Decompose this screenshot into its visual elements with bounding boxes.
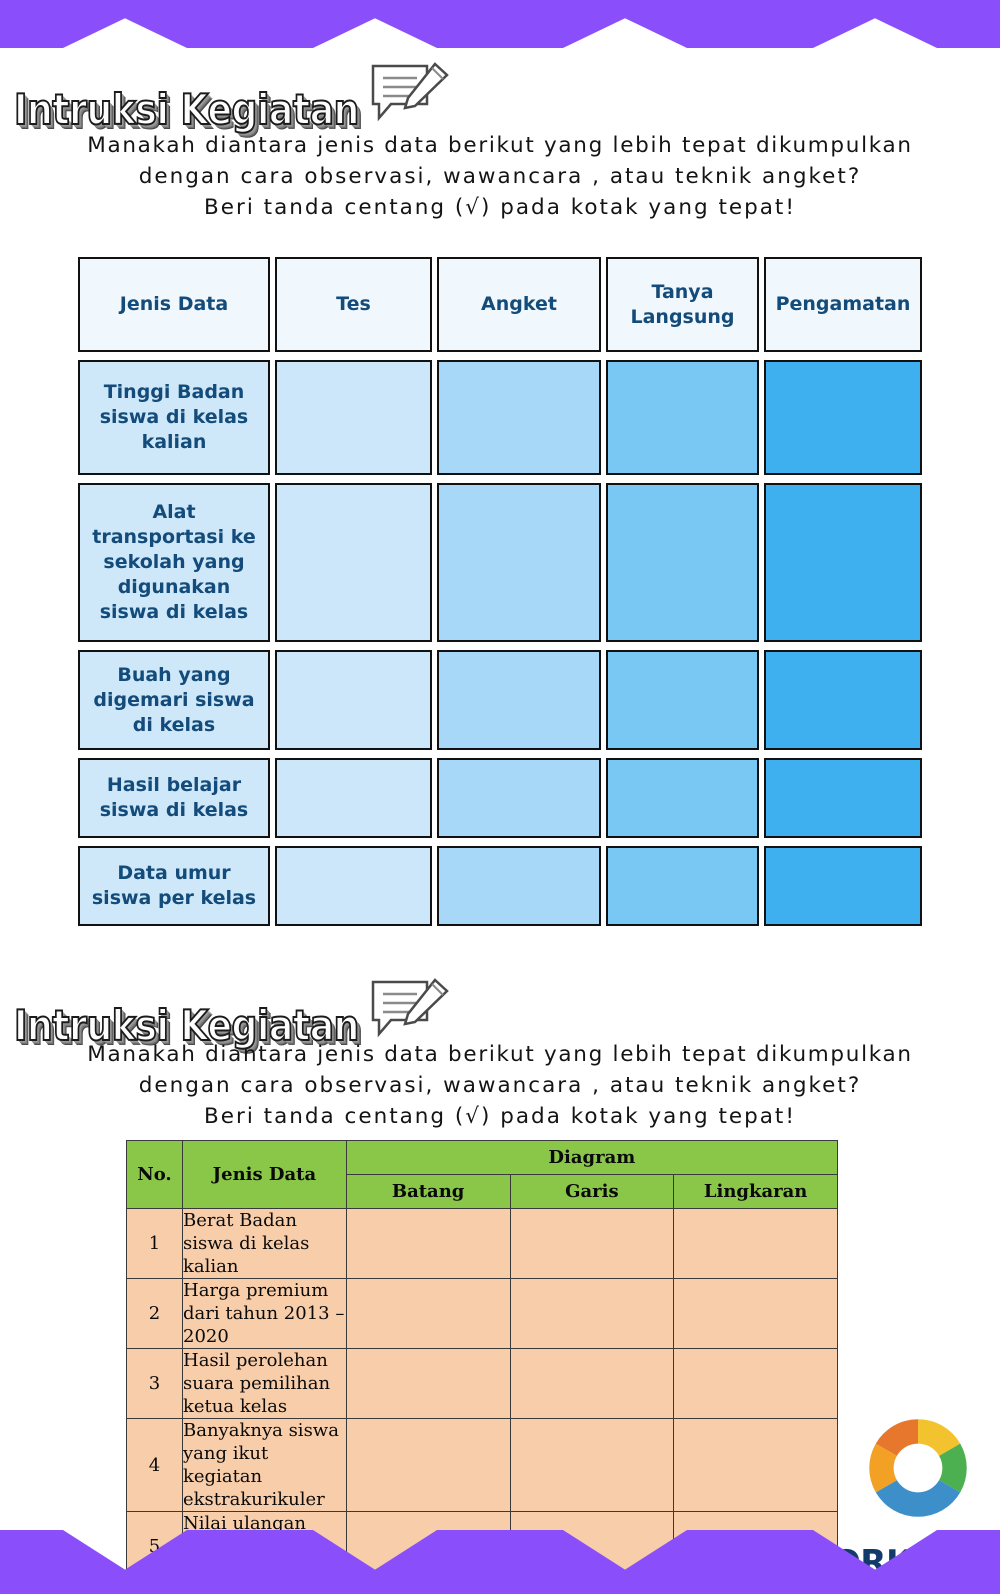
checkbox-cell-pengamatan-5[interactable] [764,846,922,926]
row-jenis-data: Banyaknya siswa yang ikut kegiatan ekstr… [183,1419,347,1512]
checkbox-cell-tes-2[interactable] [275,483,432,642]
checkbox-cell-angket-2[interactable] [437,483,601,642]
row-number: 1 [127,1209,183,1279]
instruction-line-1: Manakah diantara jenis data berikut yang… [0,130,1000,161]
checkbox-cell-tes-5[interactable] [275,846,432,926]
table-row: 2 Harga premium dari tahun 2013 – 2020 [127,1279,838,1349]
table1-header-jenis-data: Jenis Data [78,257,270,352]
section1-heading: Intruksi Kegiatan [14,62,453,132]
row-jenis-data: Berat Badan siswa di kelas kalian [183,1209,347,1279]
diagram-type-table: No. Jenis Data Diagram Batang Garis Ling… [126,1140,838,1594]
checkbox-cell-garis-3[interactable] [510,1349,674,1419]
checkbox-cell-angket-3[interactable] [437,650,601,750]
checkbox-cell-tes-4[interactable] [275,758,432,838]
row-jenis-data: Hasil perolehan suara pemilihan ketua ke… [183,1349,347,1419]
row-jenis-data: Harga premium dari tahun 2013 – 2020 [183,1279,347,1349]
checkbox-cell-pengamatan-4[interactable] [764,758,922,838]
table1-header-tanya-langsung: Tanya Langsung [606,257,759,352]
row-number: 4 [127,1419,183,1512]
checkbox-cell-garis-1[interactable] [510,1209,674,1279]
checkbox-cell-batang-1[interactable] [346,1209,510,1279]
table2-header-lingkaran: Lingkaran [674,1175,838,1209]
checkbox-cell-garis-2[interactable] [510,1279,674,1349]
checkbox-cell-angket-5[interactable] [437,846,601,926]
table-row: 4 Banyaknya siswa yang ikut kegiatan eks… [127,1419,838,1512]
checkbox-cell-garis-4[interactable] [510,1419,674,1512]
data-collection-table: Jenis Data Tes Angket Tanya Langsung Pen… [78,257,910,926]
checkbox-cell-batang-4[interactable] [346,1419,510,1512]
note-pencil-icon [369,62,453,128]
checkbox-cell-tanya-4[interactable] [606,758,759,838]
top-decorative-band [0,0,1000,48]
row-number: 2 [127,1279,183,1349]
section1-heading-text: Intruksi Kegiatan [14,88,359,132]
table1-row-label: Buah yang digemari siswa di kelas [78,650,270,750]
table1-row-label: Alat transportasi ke sekolah yang diguna… [78,483,270,642]
checkbox-cell-lingkaran-4[interactable] [674,1419,838,1512]
checkbox-cell-angket-1[interactable] [437,360,601,475]
instruction-line-2: dengan cara observasi, wawancara , atau … [0,161,1000,192]
checkbox-cell-batang-2[interactable] [346,1279,510,1349]
table2-header-diagram: Diagram [346,1141,837,1175]
checkbox-cell-lingkaran-1[interactable] [674,1209,838,1279]
worksheet-page: Intruksi Kegiatan Manakah diantara jenis… [0,0,1000,1594]
checkbox-cell-tanya-1[interactable] [606,360,759,475]
table2-header-garis: Garis [510,1175,674,1209]
table2-header-no: No. [127,1141,183,1209]
checkbox-cell-angket-4[interactable] [437,758,601,838]
table-row: 1 Berat Badan siswa di kelas kalian [127,1209,838,1279]
note-pencil-icon [369,978,453,1044]
checkbox-cell-tanya-3[interactable] [606,650,759,750]
table-row: 3 Hasil perolehan suara pemilihan ketua … [127,1349,838,1419]
row-number: 3 [127,1349,183,1419]
section1-instructions: Manakah diantara jenis data berikut yang… [0,130,1000,223]
section2-heading: Intruksi Kegiatan [14,978,453,1048]
table1-row-label: Data umur siswa per kelas [78,846,270,926]
instruction-line-3: Beri tanda centang (√) pada kotak yang t… [0,1101,1000,1132]
table2-header-row-1: No. Jenis Data Diagram [127,1141,838,1175]
checkbox-cell-lingkaran-2[interactable] [674,1279,838,1349]
checkbox-cell-tes-3[interactable] [275,650,432,750]
table1-header-pengamatan: Pengamatan [764,257,922,352]
checkbox-cell-batang-3[interactable] [346,1349,510,1419]
instruction-line-3: Beri tanda centang (√) pada kotak yang t… [0,192,1000,223]
checkbox-cell-tanya-2[interactable] [606,483,759,642]
section2-instructions: Manakah diantara jenis data berikut yang… [0,1039,1000,1132]
table1-row-label: Hasil belajar siswa di kelas [78,758,270,838]
checkbox-cell-pengamatan-1[interactable] [764,360,922,475]
table1-header-angket: Angket [437,257,601,352]
checkbox-cell-tanya-5[interactable] [606,846,759,926]
table1-header-tes: Tes [275,257,432,352]
instruction-line-2: dengan cara observasi, wawancara , atau … [0,1070,1000,1101]
checkbox-cell-lingkaran-3[interactable] [674,1349,838,1419]
checkbox-cell-pengamatan-3[interactable] [764,650,922,750]
instruction-line-1: Manakah diantara jenis data berikut yang… [0,1039,1000,1070]
checkbox-cell-pengamatan-2[interactable] [764,483,922,642]
table2-header-jenis-data: Jenis Data [183,1141,347,1209]
donut-chart-icon [860,1410,976,1526]
checkbox-cell-tes-1[interactable] [275,360,432,475]
table1-row-label: Tinggi Badan siswa di kelas kalian [78,360,270,475]
table2-header-batang: Batang [346,1175,510,1209]
